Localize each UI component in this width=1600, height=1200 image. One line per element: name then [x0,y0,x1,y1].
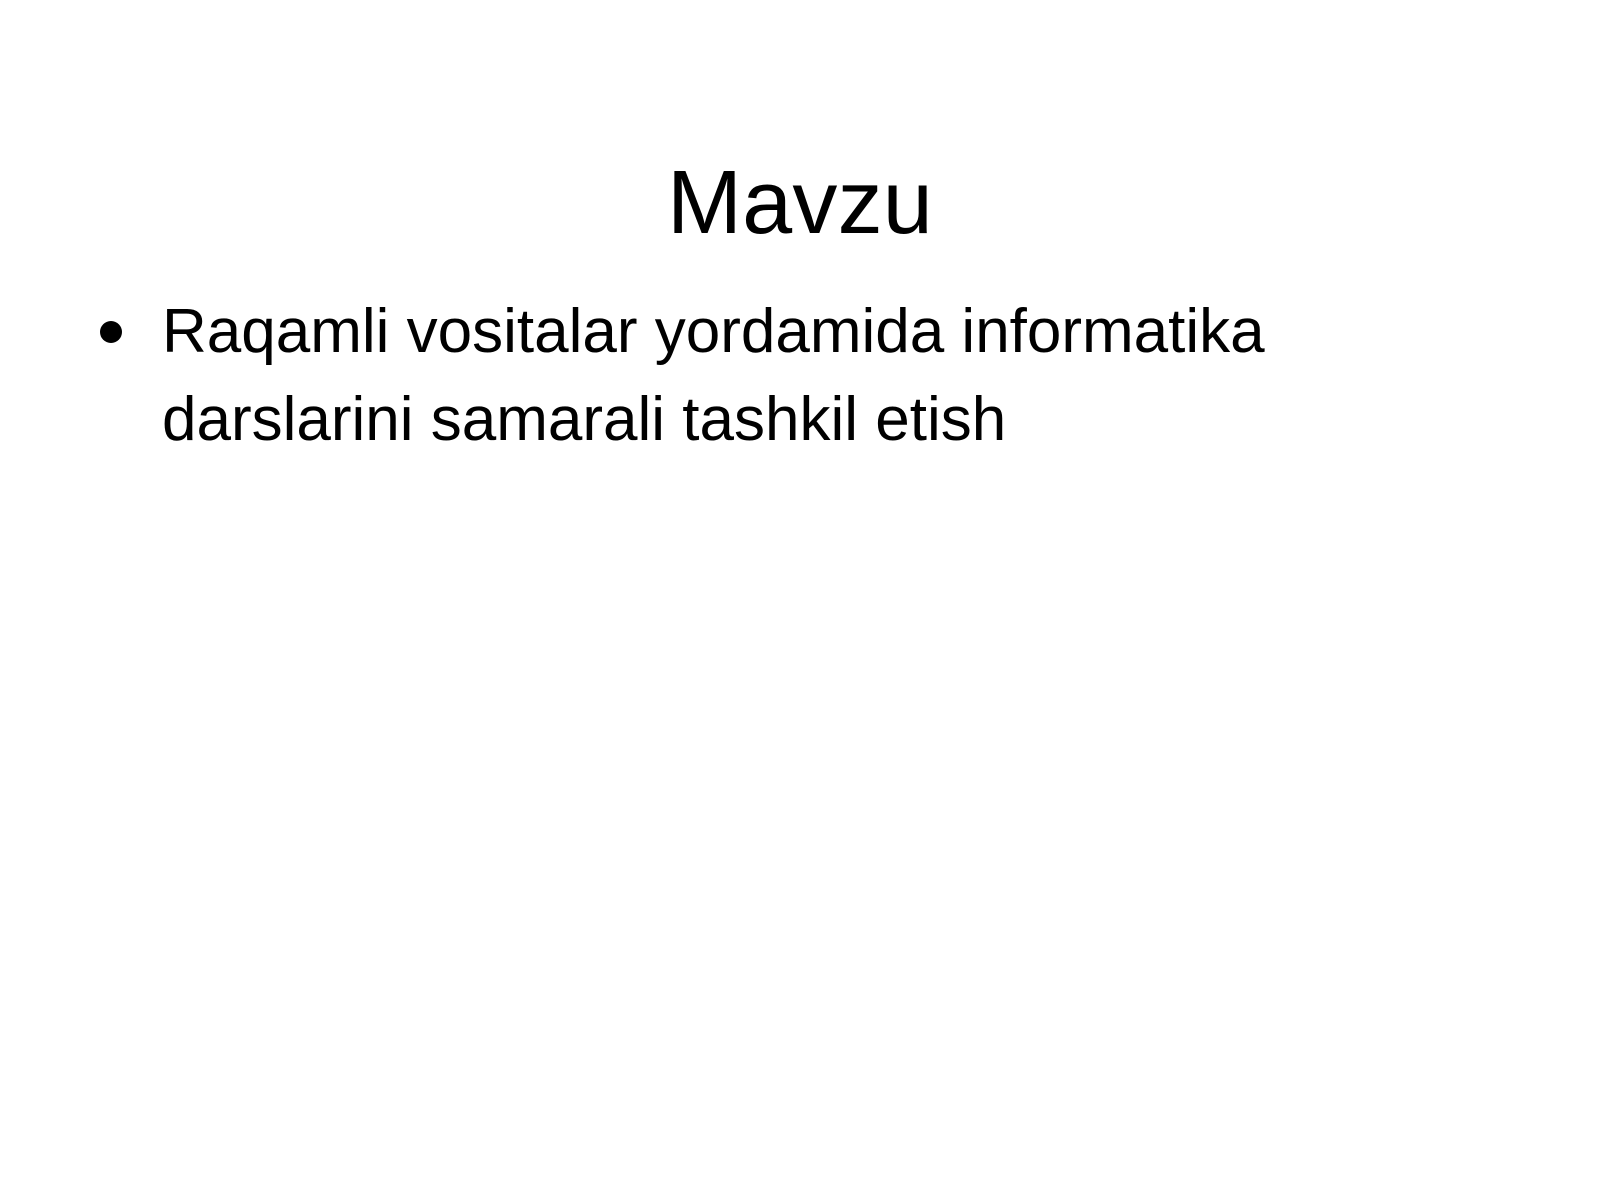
page-title: Mavzu [667,156,933,251]
bullet-list: Raqamli vositalar yordamida informatika … [92,288,1512,464]
list-item-label: Raqamli vositalar yordamida informatika … [162,288,1362,464]
bullet-dot-icon [100,321,122,343]
title-placeholder[interactable]: Mavzu [120,96,1480,216]
list-item: Raqamli vositalar yordamida informatika … [92,288,1362,464]
content-placeholder[interactable]: Raqamli vositalar yordamida informatika … [92,288,1512,1108]
presentation-slide: Mavzu Raqamli vositalar yordamida inform… [0,0,1600,1200]
